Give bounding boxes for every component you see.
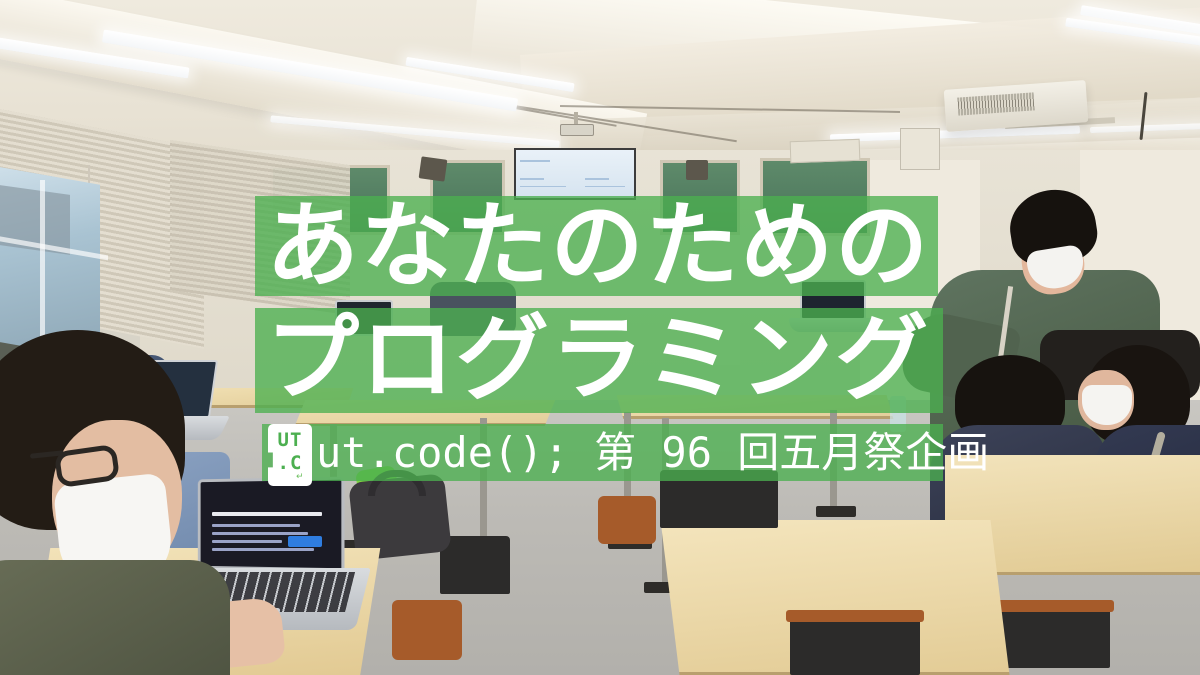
subtitle-text: ut.code(); 第 96 回五月祭企画 [316, 428, 989, 478]
poster-canvas: あなたのための プログラミング UT .C ↵ ut.code(); 第 96 … [0, 0, 1200, 675]
utcode-logo: UT .C ↵ [268, 424, 312, 486]
chair-seat [598, 496, 656, 544]
slide-text-line [520, 160, 550, 162]
slide-text-line [585, 178, 609, 180]
desk-foot [816, 506, 856, 517]
ide-code-line [212, 540, 282, 543]
headline-line-1: あなたのための [266, 200, 930, 293]
logo-tick-mark: ↵ [296, 472, 304, 482]
chair-backrest [996, 600, 1114, 612]
chair [1000, 608, 1110, 668]
slide-text-line [520, 178, 544, 180]
chair [440, 536, 510, 594]
ide-code-line [212, 524, 300, 527]
ac-control-box [900, 128, 940, 170]
headline-line-2: プログラミング [266, 313, 930, 406]
wall-speaker [419, 156, 448, 181]
air-conditioner-unit [790, 139, 861, 163]
slide-text-line [585, 186, 625, 187]
ceiling-projector [560, 124, 594, 136]
wall-speaker [686, 160, 708, 180]
ide-title-text [212, 512, 322, 516]
chair-backrest [786, 610, 924, 622]
logo-text-ut: UT [268, 429, 312, 451]
slide-text-line [520, 186, 566, 187]
foreground-person-torso [0, 560, 230, 675]
ide-code-line [212, 532, 308, 535]
ide-run-button[interactable] [288, 536, 322, 547]
chair-seat [392, 600, 462, 660]
chair [790, 618, 920, 675]
window-mullion [40, 180, 45, 350]
ide-code-line [212, 548, 314, 551]
logo-text-c: .C [268, 452, 312, 474]
